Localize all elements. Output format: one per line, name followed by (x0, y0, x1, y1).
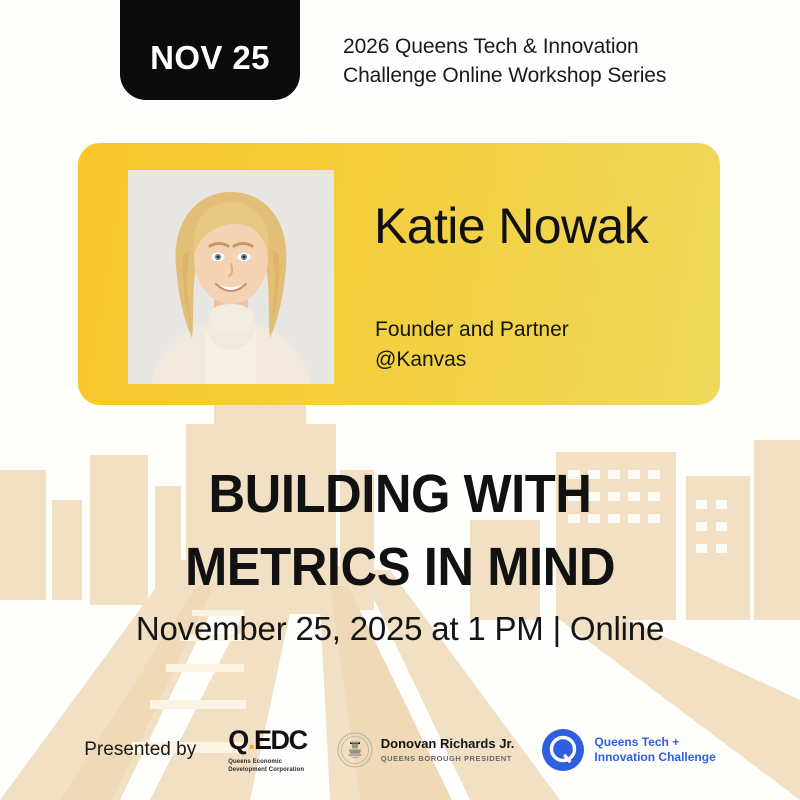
queens-tech-line-2: Innovation Challenge (594, 750, 715, 765)
event-poster: NOV 25 2026 Queens Tech & Innovation Cha… (0, 0, 800, 800)
date-badge-label: NOV 25 (150, 27, 270, 74)
borough-president-name: Donovan Richards Jr. (381, 737, 515, 752)
qedc-subtitle: Queens Economic Development Corporation (228, 758, 304, 774)
event-datetime: November 25, 2025 at 1 PM | Online (0, 610, 800, 648)
queens-tech-q-icon (542, 729, 584, 771)
logo-queens-tech-innovation-challenge: Queens Tech + Innovation Challenge (542, 729, 715, 771)
series-title: 2026 Queens Tech & Innovation Challenge … (343, 32, 703, 90)
speaker-photo (128, 170, 334, 384)
speaker-role: Founder and Partner (375, 315, 569, 345)
event-title-line-1: BUILDING WITH (24, 458, 776, 531)
qedc-mark-edc: EDC (254, 725, 307, 755)
speaker-role-block: Founder and Partner @Kanvas (375, 315, 569, 375)
event-title-line-2: METRICS IN MIND (24, 531, 776, 604)
event-title: BUILDING WITH METRICS IN MIND (0, 458, 800, 604)
series-title-line-2: Challenge Online Workshop Series (343, 61, 703, 90)
series-title-line-1: 2026 Queens Tech & Innovation (343, 32, 703, 61)
borough-president-subtitle: QUEENS BOROUGH PRESIDENT (381, 754, 515, 763)
speaker-card: Katie Nowak Founder and Partner @Kanvas (78, 143, 720, 405)
borough-president-text: Donovan Richards Jr. QUEENS BOROUGH PRES… (381, 737, 515, 763)
qedc-subtitle-line-2: Development Corporation (228, 766, 304, 774)
queens-tech-line-1: Queens Tech + (594, 735, 715, 750)
qedc-mark-q: Q (228, 725, 248, 755)
speaker-name: Katie Nowak (374, 201, 648, 251)
qedc-subtitle-line-1: Queens Economic (228, 758, 304, 766)
footer-sponsors: Presented by Q.EDC Queens Economic Devel… (0, 712, 800, 788)
logo-borough-president: Donovan Richards Jr. QUEENS BOROUGH PRES… (337, 732, 515, 768)
speaker-organization: @Kanvas (375, 345, 569, 375)
qedc-wordmark: Q.EDC (228, 727, 307, 754)
queens-tech-wordmark: Queens Tech + Innovation Challenge (594, 735, 715, 765)
headshot-illustration (128, 170, 334, 384)
logo-qedc: Q.EDC Queens Economic Development Corpor… (228, 727, 307, 774)
presented-by-label: Presented by (84, 739, 196, 761)
borough-seal-icon (337, 732, 373, 768)
date-badge: NOV 25 (120, 0, 300, 100)
